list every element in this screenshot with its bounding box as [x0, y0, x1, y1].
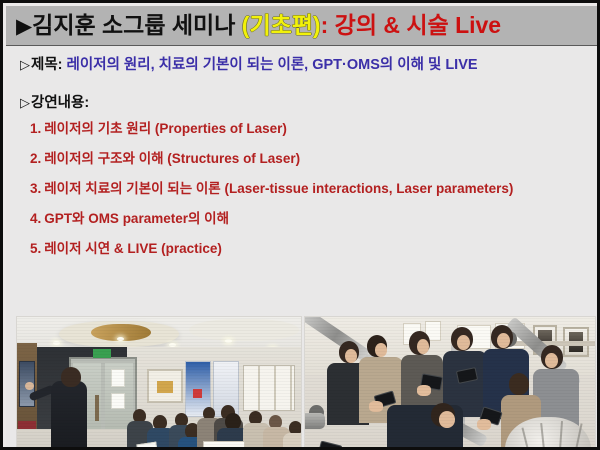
subject-label: 제목: — [31, 57, 63, 73]
hands-on-laser-demo-photo — [304, 316, 596, 450]
subject-value: 레이저의 원리, 치료의 기본이 되는 이론, GPT·OMS의 이해 및 LI… — [63, 57, 478, 73]
title-accent-text: 강의 & 시술 Live — [328, 12, 501, 38]
slide-title: ▶김지훈 소그룹 세미나 (기초편): 강의 & 시술 Live — [16, 14, 501, 37]
slide-title-bar: ▶김지훈 소그룹 세미나 (기초편): 강의 & 시술 Live — [6, 6, 597, 46]
content-bullet-triangle-icon: ▷ — [20, 95, 30, 110]
title-main-text: 김지훈 소그룹 세미나 — [32, 12, 242, 38]
list-item: 4.GPT와 OMS parameter의 이해 — [30, 212, 590, 226]
list-item-number: 4. — [30, 211, 41, 226]
presentation-slide: ▶김지훈 소그룹 세미나 (기초편): 강의 & 시술 Live ▷제목: 레이… — [0, 0, 600, 450]
list-item-number: 2. — [30, 151, 41, 166]
list-item: 5.레이저 시연 & LIVE (practice) — [30, 242, 590, 256]
photo-strip — [16, 316, 596, 450]
list-item-text: 레이저의 기초 원리 (Properties of Laser) — [44, 121, 287, 136]
list-item-number: 3. — [30, 181, 41, 196]
list-item-number: 5. — [30, 241, 41, 256]
list-item-number: 1. — [30, 121, 41, 136]
agenda-list: 1.레이저의 기초 원리 (Properties of Laser) 2.레이저… — [30, 122, 590, 272]
list-item: 2.레이저의 구조와 이해 (Structures of Laser) — [30, 152, 590, 166]
title-highlight-text: (기초편) — [242, 12, 321, 38]
content-heading-label: 강연내용: — [31, 95, 89, 111]
list-item: 1.레이저의 기초 원리 (Properties of Laser) — [30, 122, 590, 136]
list-item-text: 레이저 시연 & LIVE (practice) — [44, 241, 222, 256]
subject-bullet-triangle-icon: ▷ — [20, 57, 30, 72]
list-item-text: 레이저의 구조와 이해 (Structures of Laser) — [44, 151, 300, 166]
seminar-lecture-photo — [16, 316, 302, 450]
list-item-text: 레이저 치료의 기본이 되는 이론 (Laser-tissue interact… — [44, 181, 513, 196]
subject-line: ▷제목: 레이저의 원리, 치료의 기본이 되는 이론, GPT·OMS의 이해… — [20, 58, 478, 73]
slide-body: ▷제목: 레이저의 원리, 치료의 기본이 되는 이론, GPT·OMS의 이해… — [6, 46, 597, 450]
content-heading: ▷강연내용: — [20, 96, 89, 111]
title-bullet-triangle-icon: ▶ — [16, 15, 31, 38]
list-item: 3.레이저 치료의 기본이 되는 이론 (Laser-tissue intera… — [30, 182, 590, 196]
list-item-text: GPT와 OMS parameter의 이해 — [44, 211, 229, 226]
